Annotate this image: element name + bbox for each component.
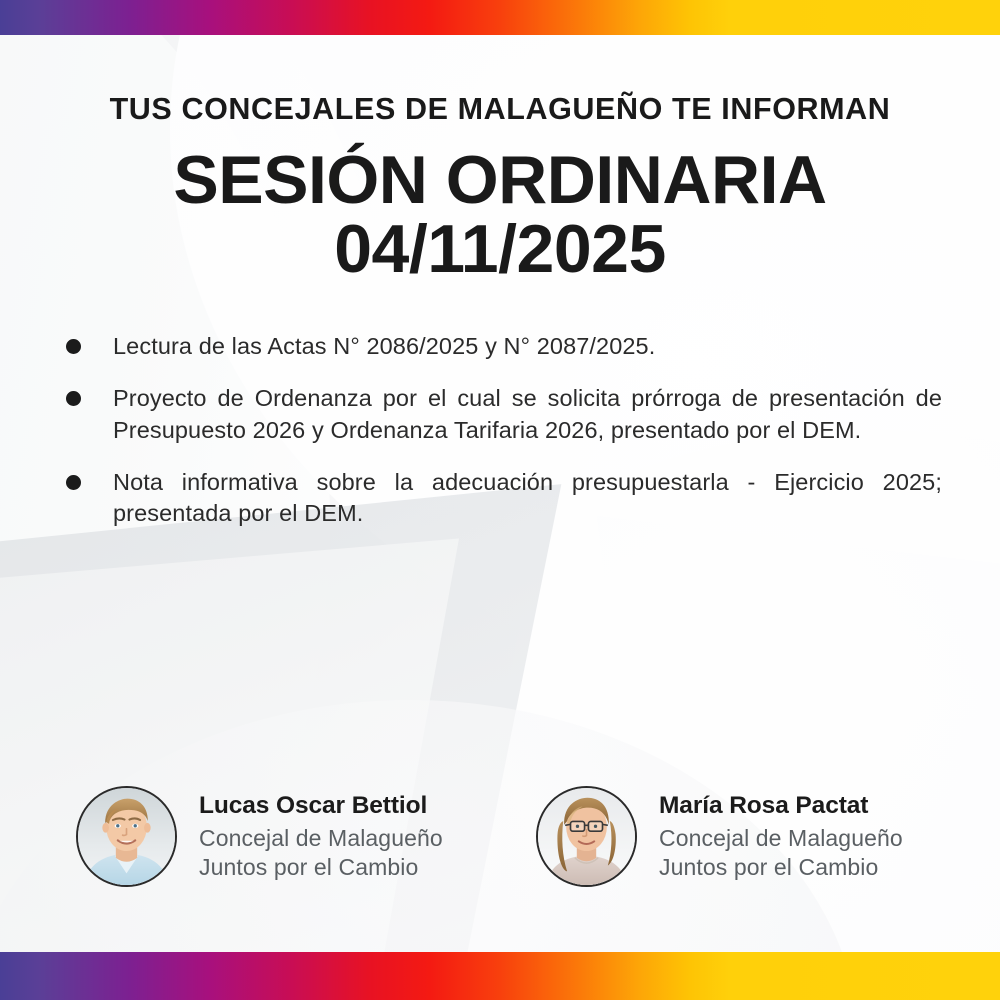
poster-content: TUS CONCEJALES DE MALAGUEÑO TE INFORMAN …	[0, 0, 1000, 1000]
councillor-name: Lucas Oscar Bettiol	[199, 791, 443, 822]
title-line-2: 04/11/2025	[0, 215, 1000, 284]
title-line-1: SESIÓN ORDINARIA	[173, 142, 826, 218]
agenda-list: Lectura de las Actas N° 2086/2025 y N° 2…	[66, 331, 942, 550]
councillors-row: Lucas Oscar Bettiol Concejal de Malagueñ…	[0, 786, 1000, 887]
councillor-role: Concejal de Malagueño	[659, 824, 903, 853]
councillor-role: Concejal de Malagueño	[199, 824, 443, 853]
councillor-party: Juntos por el Cambio	[199, 853, 443, 882]
list-item: Lectura de las Actas N° 2086/2025 y N° 2…	[66, 331, 942, 362]
avatar	[76, 786, 177, 887]
avatar	[536, 786, 637, 887]
agenda-item-text: Lectura de las Actas N° 2086/2025 y N° 2…	[113, 331, 942, 362]
councillor-name: María Rosa Pactat	[659, 791, 903, 822]
councillor-card-2: María Rosa Pactat Concejal de Malagueño …	[470, 786, 940, 887]
portrait-photo-icon	[538, 788, 635, 885]
kicker-heading: TUS CONCEJALES DE MALAGUEÑO TE INFORMAN	[0, 92, 1000, 127]
agenda-item-text: Proyecto de Ordenanza por el cual se sol…	[113, 383, 942, 446]
list-item: Proyecto de Ordenanza por el cual se sol…	[66, 383, 942, 446]
councillor-party: Juntos por el Cambio	[659, 853, 903, 882]
bullet-dot-icon	[66, 339, 81, 354]
councillor-card-1: Lucas Oscar Bettiol Concejal de Malagueñ…	[0, 786, 470, 887]
list-item: Nota informativa sobre la adecuación pre…	[66, 467, 942, 530]
councillor-info: Lucas Oscar Bettiol Concejal de Malagueñ…	[199, 791, 443, 881]
portrait-photo-icon	[78, 788, 175, 885]
bullet-dot-icon	[66, 475, 81, 490]
councillor-info: María Rosa Pactat Concejal de Malagueño …	[659, 791, 903, 881]
page-title: SESIÓN ORDINARIA 04/11/2025	[0, 146, 1000, 285]
agenda-item-text: Nota informativa sobre la adecuación pre…	[113, 467, 942, 530]
poster-canvas: TUS CONCEJALES DE MALAGUEÑO TE INFORMAN …	[0, 0, 1000, 1000]
bullet-dot-icon	[66, 391, 81, 406]
